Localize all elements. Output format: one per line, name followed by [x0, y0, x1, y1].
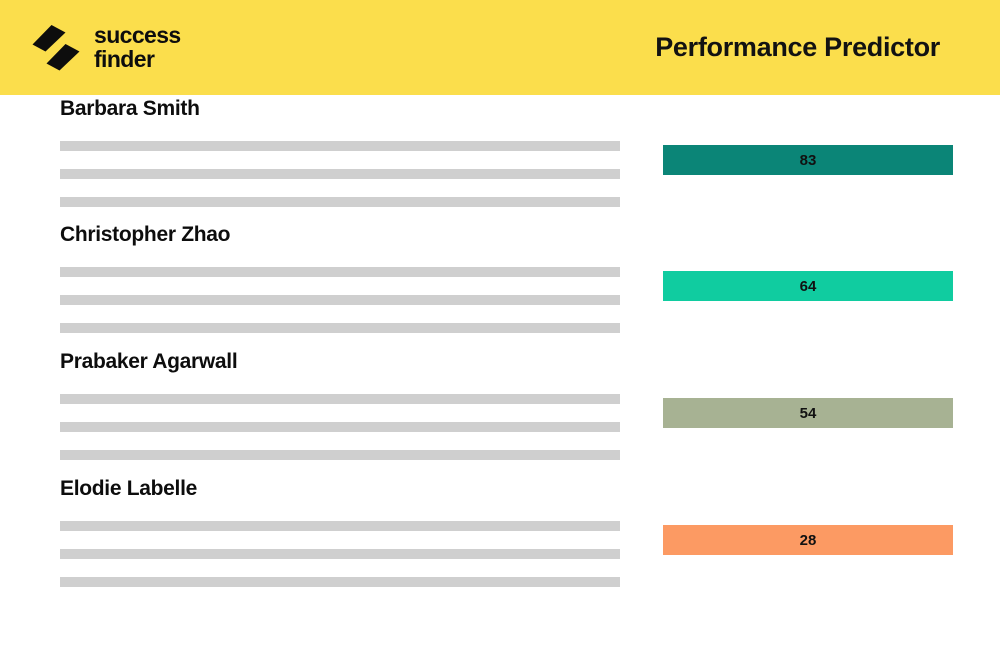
detail-placeholder-group [60, 267, 620, 333]
successfinder-slash-logo-icon [32, 23, 80, 73]
score-value: 64 [800, 278, 817, 295]
score-value: 28 [800, 532, 817, 549]
detail-placeholder-line [60, 577, 620, 587]
detail-placeholder-group [60, 521, 620, 587]
row-details: Barbara Smith [60, 95, 620, 207]
person-name: Elodie Labelle [60, 475, 620, 503]
detail-placeholder-line [60, 141, 620, 151]
row-details: Elodie Labelle [60, 475, 620, 587]
detail-placeholder-line [60, 267, 620, 277]
detail-placeholder-line [60, 549, 620, 559]
score-bar[interactable]: 83 [663, 145, 953, 175]
detail-placeholder-line [60, 450, 620, 460]
row-details: Christopher Zhao [60, 221, 620, 333]
score-bar[interactable]: 54 [663, 398, 953, 428]
row-details: Prabaker Agarwall [60, 348, 620, 460]
score-value: 83 [800, 152, 817, 169]
detail-placeholder-line [60, 394, 620, 404]
detail-placeholder-line [60, 323, 620, 333]
detail-placeholder-line [60, 521, 620, 531]
score-bar[interactable]: 28 [663, 525, 953, 555]
result-row[interactable]: Christopher Zhao 64 [0, 221, 1000, 347]
detail-placeholder-line [60, 169, 620, 179]
detail-placeholder-line [60, 295, 620, 305]
score-bar[interactable]: 64 [663, 271, 953, 301]
person-name: Barbara Smith [60, 95, 620, 123]
brand-logo[interactable]: success finder [32, 23, 181, 73]
detail-placeholder-group [60, 141, 620, 207]
detail-placeholder-line [60, 422, 620, 432]
performance-predictor-page: success finder Performance Predictor Bar… [0, 0, 1000, 667]
person-name: Prabaker Agarwall [60, 348, 620, 376]
app-header: success finder Performance Predictor [0, 0, 1000, 95]
detail-placeholder-group [60, 394, 620, 460]
page-title: Performance Predictor [655, 32, 940, 63]
result-row[interactable]: Elodie Labelle 28 [0, 475, 1000, 601]
brand-wordmark: success finder [94, 24, 181, 71]
detail-placeholder-line [60, 197, 620, 207]
results-list: Barbara Smith 83 Christopher Zhao [0, 95, 1000, 667]
person-name: Christopher Zhao [60, 221, 620, 249]
result-row[interactable]: Barbara Smith 83 [0, 95, 1000, 221]
result-row[interactable]: Prabaker Agarwall 54 [0, 348, 1000, 474]
brand-wordmark-line2: finder [94, 48, 181, 71]
brand-wordmark-line1: success [94, 24, 181, 47]
score-value: 54 [800, 405, 817, 422]
